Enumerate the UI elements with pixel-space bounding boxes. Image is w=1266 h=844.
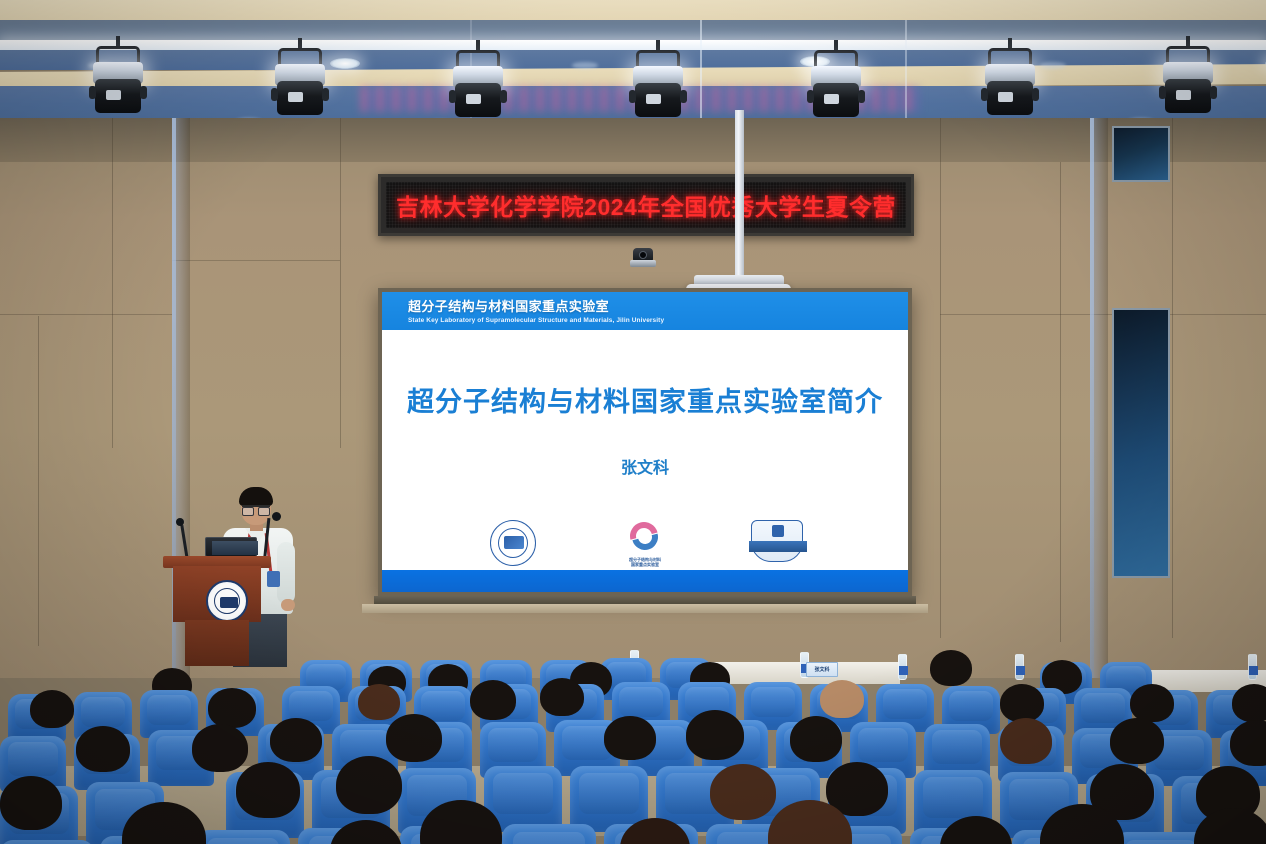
name-placard: 张文科: [806, 662, 838, 677]
spotlight-label: [1176, 90, 1191, 100]
ceiling-fixture-3: [1040, 62, 1066, 69]
led-banner-text: 吉林大学化学学院2024年全国优秀大学生夏令营: [396, 188, 896, 222]
slide-main-title: 超分子结构与材料国家重点实验室简介: [382, 380, 908, 419]
stage-spotlight-4: [628, 50, 688, 122]
lectern-university-seal-icon: [206, 580, 248, 622]
spotlight-knob-right: [858, 90, 865, 103]
audience-head: [470, 680, 516, 720]
recessed-light-1: [330, 58, 360, 69]
projection-screen-frame: 超分子结构与材料国家重点实验室 State Key Laboratory of …: [378, 288, 912, 596]
audience-head: [604, 716, 656, 760]
badge-ribbon: [749, 541, 807, 552]
audience-head: [192, 724, 248, 772]
audience-head: [1232, 684, 1266, 722]
chemistry-college-badge-icon: [751, 520, 803, 562]
auditorium-scene: 吉林大学化学学院2024年全国优秀大学生夏令营 EPSON 超分子结构与材料国家…: [0, 0, 1266, 844]
audience-head: [710, 764, 776, 820]
lab-caption-line2: 国家重点实验室: [631, 562, 659, 567]
camera-mount: [630, 260, 656, 267]
screen-shelf: [362, 604, 928, 613]
placard-text: 张文科: [814, 666, 829, 673]
spotlight-knob-left: [449, 90, 456, 103]
spotlight-knob-left: [1159, 86, 1166, 99]
microphone-head-left: [176, 518, 184, 526]
audience-head: [30, 690, 74, 728]
jilin-university-seal-icon: [490, 520, 536, 566]
wall-seam: [940, 118, 941, 638]
seat: [502, 824, 596, 844]
audience-head: [76, 726, 130, 772]
seat: [196, 830, 290, 844]
ceiling-seam-right: [905, 20, 907, 132]
ceiling-seam-center: [700, 20, 702, 132]
audience-head: [336, 756, 402, 814]
spotlight-knob-right: [322, 88, 329, 101]
spotlight-label: [646, 94, 661, 104]
speaker-right-hand: [281, 599, 295, 611]
s-arc-blue: [627, 519, 663, 555]
bottle-label: [899, 666, 908, 675]
microphone-head-right: [272, 512, 281, 521]
audience-head: [540, 678, 584, 716]
slide-body: 超分子结构与材料国家重点实验室简介 张文科 超: [382, 330, 908, 570]
audience-head: [1110, 718, 1164, 764]
spotlight-label: [998, 92, 1013, 102]
spotlight-knob-right: [680, 90, 687, 103]
ceiling-light-strip-upper: [0, 40, 1266, 50]
spotlight-knob-left: [271, 88, 278, 101]
spotlight-knob-left: [89, 86, 96, 99]
audience-head: [0, 776, 62, 830]
audience-head: [686, 710, 744, 760]
stage-spotlight-5: [806, 50, 866, 122]
pillar-edge-highlight: [1090, 118, 1094, 678]
wall-seam: [0, 314, 172, 315]
spotlight-knob-left: [629, 90, 636, 103]
lectern-seal-core: [220, 597, 238, 608]
bottle-label: [1016, 666, 1025, 675]
spotlight-knob-right: [1210, 86, 1217, 99]
spotlight-label: [288, 92, 303, 102]
spotlight-label: [466, 94, 481, 104]
spotlight-knob-left: [981, 88, 988, 101]
supramolecular-lab-caption: 超分子结构与材料 国家重点实验室: [629, 557, 661, 568]
stage-spotlight-7: [1158, 46, 1218, 118]
audience-area: 张文科: [0, 640, 1266, 844]
wall-seam: [340, 118, 341, 448]
seal-emblem-core: [504, 536, 524, 549]
wall-seam: [38, 316, 39, 646]
stage-spotlight-6: [980, 48, 1040, 120]
audience-head: [1130, 684, 1174, 722]
logo-supramolecular-lab: 超分子结构与材料 国家重点实验室: [617, 520, 673, 568]
stage-spotlight-3: [448, 50, 508, 122]
wall-seam: [1060, 162, 1061, 642]
speaker-hair: [239, 487, 273, 506]
wall-seam: [112, 118, 113, 448]
stage-spotlight-2: [270, 48, 330, 120]
stage-spotlight-1: [88, 46, 148, 118]
ceiling-fixture-2: [572, 62, 598, 69]
badge-crest: [772, 525, 784, 537]
supramolecular-s-icon: [624, 520, 666, 554]
ceiling-camera-icon: [630, 248, 656, 268]
slide-footer-bar: [382, 570, 908, 592]
ceiling-cream-top-band: [0, 0, 1266, 22]
led-banner-frame: 吉林大学化学学院2024年全国优秀大学生夏令营: [378, 174, 914, 236]
slide-header-title-en: State Key Laboratory of Supramolecular S…: [408, 317, 908, 324]
projection-screen: 超分子结构与材料国家重点实验室 State Key Laboratory of …: [382, 292, 908, 592]
water-bottle: [1248, 654, 1257, 680]
audience-head: [386, 714, 442, 762]
water-bottle: [1015, 654, 1024, 680]
wall-pillar-right: [1090, 118, 1108, 678]
laptop-lid: [205, 537, 257, 557]
wall-window-tall-right: [1112, 308, 1170, 578]
lectern-front-panel: [173, 566, 261, 622]
wall-seam: [1172, 118, 1173, 638]
camera-lens: [639, 251, 647, 259]
spotlight-knob-right: [1032, 88, 1039, 101]
audience-head: [208, 688, 256, 728]
spotlight-knob-right: [500, 90, 507, 103]
spotlight-label: [106, 90, 121, 100]
audience-head: [236, 762, 300, 818]
bottle-label: [1249, 666, 1258, 675]
spotlight-label: [824, 94, 839, 104]
spotlight-knob-right: [140, 86, 147, 99]
audience-head: [270, 718, 322, 762]
audience-head: [930, 650, 972, 686]
audience-head: [1000, 718, 1052, 764]
slide-author-name: 张文科: [382, 454, 908, 478]
slide-header-title-cn: 超分子结构与材料国家重点实验室: [408, 296, 908, 315]
led-banner-panel: 吉林大学化学学院2024年全国优秀大学生夏令营: [386, 182, 906, 228]
logo-jilin-university: [485, 520, 541, 566]
logo-chemistry-college: [749, 520, 805, 562]
wall-seam: [172, 260, 340, 261]
wall-window-right: [1112, 126, 1170, 182]
slide-header-bar: 超分子结构与材料国家重点实验室 State Key Laboratory of …: [382, 292, 908, 330]
audience-head: [820, 680, 864, 718]
slide-logo-row: 超分子结构与材料 国家重点实验室: [382, 520, 908, 568]
water-bottle: [898, 654, 907, 680]
audience-head: [358, 684, 400, 720]
audience-head: [790, 716, 842, 762]
spotlight-knob-left: [807, 90, 814, 103]
audience-head: [1000, 684, 1044, 722]
speaker-glasses-icon: [242, 505, 270, 512]
seat: [0, 840, 94, 844]
projector-mount-pole: [735, 110, 744, 282]
laptop-screen: [212, 541, 258, 555]
